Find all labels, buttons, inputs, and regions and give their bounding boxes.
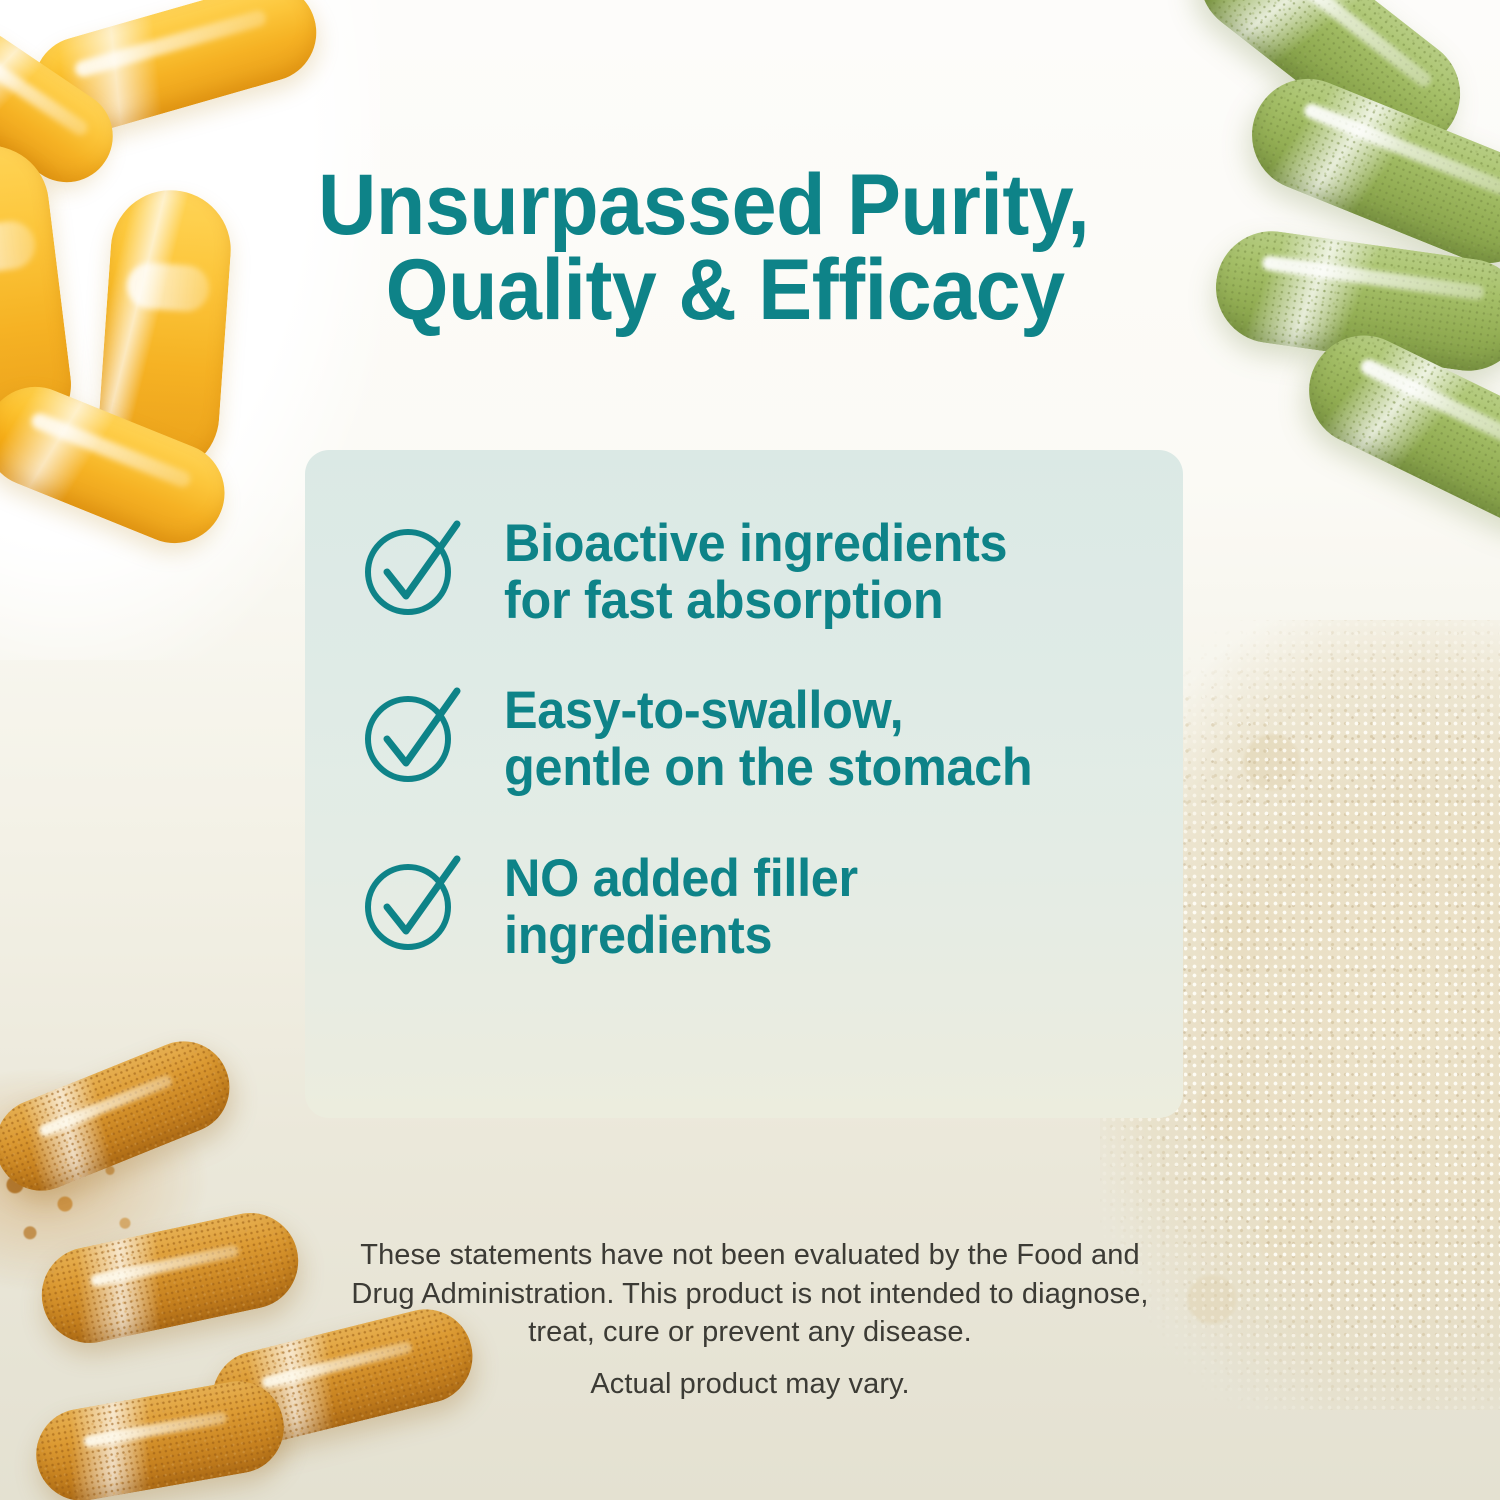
benefit-label: Easy-to-swallow, gentle on the stomach bbox=[504, 679, 1032, 796]
benefit-line-2: gentle on the stomach bbox=[504, 738, 1032, 797]
page-title: Unsurpassed Purity, Quality & Efficacy bbox=[318, 163, 1126, 333]
benefit-item: NO added filler ingredients bbox=[360, 847, 1143, 964]
check-circle-icon bbox=[360, 851, 466, 957]
check-circle-icon bbox=[360, 516, 466, 622]
benefit-line-2: ingredients bbox=[504, 906, 772, 965]
product-variance-note: Actual product may vary. bbox=[330, 1368, 1170, 1401]
check-circle-icon bbox=[360, 683, 466, 789]
benefit-item: Bioactive ingredients for fast absorptio… bbox=[360, 512, 1143, 629]
fda-disclaimer: These statements have not been evaluated… bbox=[330, 1236, 1170, 1352]
promo-image-canvas: Unsurpassed Purity, Quality & Efficacy B… bbox=[0, 0, 1500, 1500]
turmeric-capsule bbox=[0, 1027, 243, 1204]
benefit-label: NO added filler ingredients bbox=[504, 847, 858, 964]
benefit-line-1: NO added filler bbox=[504, 849, 858, 908]
benefit-line-1: Bioactive ingredients bbox=[504, 514, 1007, 573]
turmeric-capsule bbox=[29, 1374, 291, 1500]
benefit-item: Easy-to-swallow, gentle on the stomach bbox=[360, 679, 1143, 796]
benefit-line-1: Easy-to-swallow, bbox=[504, 681, 903, 740]
benefit-label: Bioactive ingredients for fast absorptio… bbox=[504, 512, 1007, 629]
headline-line-2: Quality & Efficacy bbox=[318, 248, 1126, 333]
turmeric-capsule bbox=[33, 1204, 307, 1352]
benefit-line-2: for fast absorption bbox=[504, 571, 943, 630]
benefits-list: Bioactive ingredients for fast absorptio… bbox=[360, 512, 1143, 964]
headline-line-1: Unsurpassed Purity, bbox=[318, 163, 1126, 248]
benefits-card: Bioactive ingredients for fast absorptio… bbox=[305, 450, 1183, 1118]
